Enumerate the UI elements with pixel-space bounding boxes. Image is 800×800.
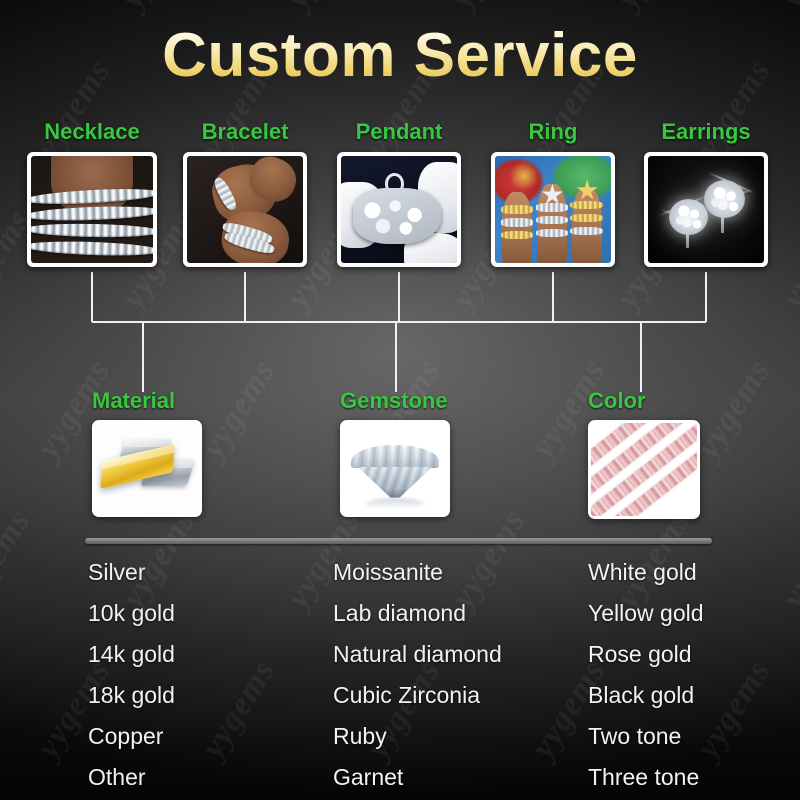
list-item[interactable]: Black gold <box>588 675 704 716</box>
watermark-text: yygems <box>774 203 800 315</box>
list-item[interactable]: Lab diamond <box>333 593 502 634</box>
color-thumbnail[interactable] <box>588 420 700 519</box>
watermark-text: yygems <box>444 0 533 15</box>
watermark-text: yygems <box>689 353 778 465</box>
list-item[interactable]: Other <box>88 757 175 798</box>
pendant-thumbnail[interactable] <box>337 152 461 267</box>
ring-thumbnail[interactable] <box>491 152 615 267</box>
watermark-text: yygems <box>774 0 800 15</box>
list-item[interactable]: 10k gold <box>88 593 175 634</box>
list-item[interactable]: 14k gold <box>88 634 175 675</box>
option-material[interactable]: Material <box>92 388 202 517</box>
material-icon <box>95 423 199 514</box>
watermark-text: yygems <box>114 0 203 15</box>
watermark-text: yygems <box>194 653 283 765</box>
category-label: Necklace <box>27 118 157 146</box>
necklace-thumbnail[interactable] <box>27 152 157 267</box>
option-gemstone[interactable]: Gemstone <box>340 388 450 517</box>
option-label: Color <box>588 388 700 414</box>
category-label: Pendant <box>337 118 461 146</box>
watermark-text: yygems <box>774 503 800 615</box>
list-item[interactable]: Natural diamond <box>333 634 502 675</box>
category-bracelet[interactable]: Bracelet <box>183 118 307 267</box>
list-item[interactable]: White gold <box>588 552 704 593</box>
material-thumbnail[interactable] <box>92 420 202 517</box>
necklace-icon <box>31 156 153 263</box>
list-item[interactable]: Two tone <box>588 716 704 757</box>
watermark-text: yygems <box>0 503 39 615</box>
watermark-text: yygems <box>609 0 698 15</box>
list-item[interactable]: Garnet <box>333 757 502 798</box>
list-item[interactable]: Moissanite <box>333 552 502 593</box>
pendant-icon <box>341 156 457 263</box>
category-ring[interactable]: Ring <box>491 118 615 267</box>
watermark-text: yygems <box>194 353 283 465</box>
gemstone-thumbnail[interactable] <box>340 420 450 517</box>
material-option-list: Silver 10k gold 14k gold 18k gold Copper… <box>88 552 175 798</box>
option-label: Material <box>92 388 202 414</box>
watermark-text: yygems <box>279 0 368 15</box>
option-color[interactable]: Color <box>588 388 700 519</box>
gemstone-option-list: Moissanite Lab diamond Natural diamond C… <box>333 552 502 798</box>
category-earrings[interactable]: Earrings <box>644 118 768 267</box>
color-icon <box>591 423 697 516</box>
earrings-icon <box>648 156 764 263</box>
category-label: Ring <box>491 118 615 146</box>
earrings-thumbnail[interactable] <box>644 152 768 267</box>
color-option-list: White gold Yellow gold Rose gold Black g… <box>588 552 704 798</box>
category-label: Bracelet <box>183 118 307 146</box>
bracelet-icon <box>187 156 303 263</box>
list-item[interactable]: Yellow gold <box>588 593 704 634</box>
option-label: Gemstone <box>340 388 450 414</box>
bracelet-thumbnail[interactable] <box>183 152 307 267</box>
list-item[interactable]: Copper <box>88 716 175 757</box>
custom-service-poster: yygemsyygemsyygemsyygemsyygemsyygemsyyge… <box>0 0 800 800</box>
watermark-text: yygems <box>0 0 39 15</box>
list-item[interactable]: Silver <box>88 552 175 593</box>
list-item[interactable]: Cubic Zirconia <box>333 675 502 716</box>
list-item[interactable]: 18k gold <box>88 675 175 716</box>
category-necklace[interactable]: Necklace <box>27 118 157 267</box>
gemstone-icon <box>343 423 447 514</box>
category-label: Earrings <box>644 118 768 146</box>
list-item[interactable]: Three tone <box>588 757 704 798</box>
section-divider <box>85 538 712 544</box>
list-item[interactable]: Rose gold <box>588 634 704 675</box>
ring-icon <box>495 156 611 263</box>
list-item[interactable]: Ruby <box>333 716 502 757</box>
category-pendant[interactable]: Pendant <box>337 118 461 267</box>
page-title: Custom Service <box>0 20 800 91</box>
